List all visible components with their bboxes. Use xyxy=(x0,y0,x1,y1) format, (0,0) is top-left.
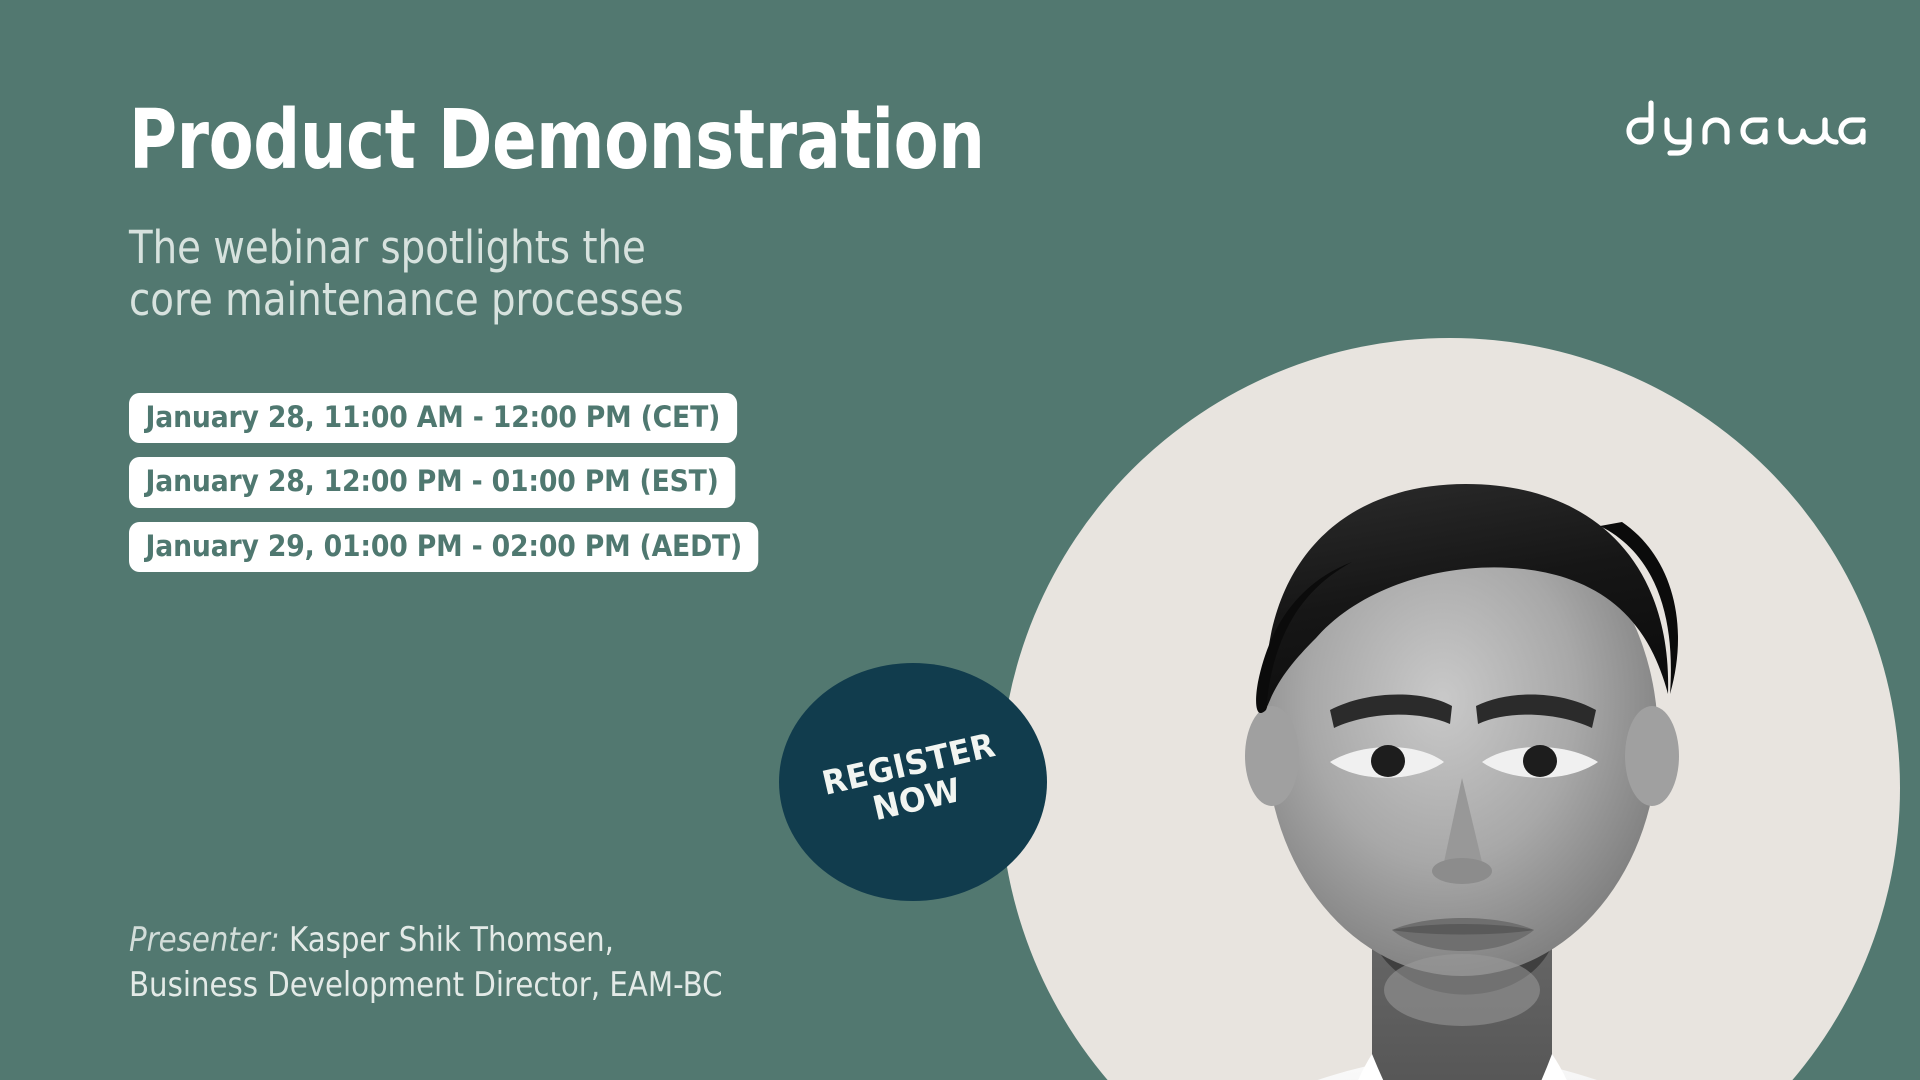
session-badge-est[interactable]: January 28, 12:00 PM - 01:00 PM (EST) xyxy=(129,457,735,507)
page-subtitle: The webinar spotlights the core maintena… xyxy=(129,222,684,326)
presenter-portrait xyxy=(1000,338,1900,1080)
subtitle-line-2: core maintenance processes xyxy=(129,274,684,326)
presenter-block: Presenter: Kasper Shik Thomsen, Business… xyxy=(129,918,723,1008)
register-now-button[interactable]: REGISTER NOW xyxy=(779,663,1047,901)
webinar-banner: Product Demonstration The webinar spotli… xyxy=(0,0,1920,1080)
register-now-label: REGISTER NOW xyxy=(814,726,1011,838)
session-badge-aedt[interactable]: January 29, 01:00 PM - 02:00 PM (AEDT) xyxy=(129,522,759,572)
presenter-role: Business Development Director, EAM-BC xyxy=(129,963,723,1008)
page-title: Product Demonstration xyxy=(129,100,985,182)
session-badge-cet[interactable]: January 28, 11:00 AM - 12:00 PM (CET) xyxy=(129,393,737,443)
dynaway-logo xyxy=(1620,96,1868,158)
presenter-name: Kasper Shik Thomsen, xyxy=(289,920,614,960)
content-column: Product Demonstration The webinar spotli… xyxy=(129,0,1049,1080)
presenter-label: Presenter: xyxy=(129,920,280,960)
subtitle-line-1: The webinar spotlights the xyxy=(129,222,684,274)
presenter-photo xyxy=(1000,338,1900,1080)
session-list: January 28, 11:00 AM - 12:00 PM (CET) Ja… xyxy=(129,393,813,572)
presenter-name-line: Presenter: Kasper Shik Thomsen, xyxy=(129,918,723,963)
